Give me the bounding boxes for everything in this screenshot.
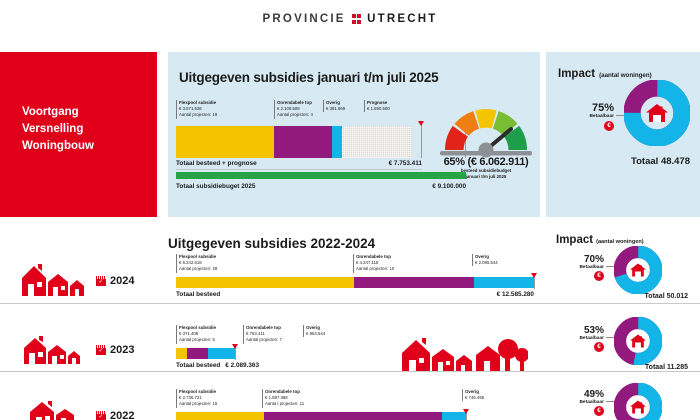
houses-silhouette-icon [22, 334, 90, 364]
total-label: Totaal besteed [176, 291, 220, 298]
marker-pin-2022 [466, 409, 467, 420]
legend-overig-2025: Overig € 381.869 [323, 100, 359, 112]
houses-silhouette-icon [20, 262, 92, 296]
legend-amount: € 954.544 [306, 331, 325, 336]
brand-word-provincie: PROVINCIE [263, 13, 346, 25]
marker-pin-2023 [235, 344, 236, 360]
legend-onrendabele-2024: Onrendabele top € 4.247.118 Aantal proje… [353, 254, 463, 273]
impact-subtitle: (aantal woningen) [599, 72, 652, 79]
gauge-chart: 65% (€ 6.062.911) besteed subsidiebudget… [436, 100, 536, 160]
total-label: Totaal besteed [176, 362, 220, 369]
donut-chart-2023 [614, 317, 662, 365]
year-label-2024: 2024 [96, 275, 134, 287]
houses-silhouette-icon [28, 400, 90, 420]
impact-subtitle: (aantal woningen) [596, 239, 644, 245]
legend-amount: € 1.597.388 [265, 395, 288, 400]
bar-segment-overig [474, 277, 534, 288]
legend-projects: Aantal projecten: 7 [246, 337, 282, 342]
marker-pin-besteed [421, 121, 422, 158]
total-row-2023: Totaal besteed € 2.089.363 [176, 362, 259, 369]
donut-chart-2024 [614, 246, 662, 294]
budget-bar-2025 [176, 172, 466, 179]
bar-segment-overig [332, 126, 343, 158]
impact-percent-block-2023: 53% Betaalbaar € [554, 325, 604, 352]
legend-projects: Aantal projecten: 19 [179, 112, 217, 117]
divider-2024 [0, 303, 700, 304]
bar-segment-onrendabele [187, 348, 209, 359]
section-title-2224: Uitgegeven subsidies 2022-2024 [168, 236, 375, 251]
bar-2022 [176, 412, 466, 420]
legend-projects: Aantal projecten: 5 [179, 337, 215, 342]
infographic-page: PROVINCIE UTRECHT Voortgang Versnelling … [0, 0, 700, 420]
euro-badge-icon: € [594, 406, 604, 416]
year-label-2023: 2023 [96, 344, 134, 356]
gauge-subcaption: besteed subsidiebudget januari t/m juli … [436, 168, 536, 180]
brand-header: PROVINCIE UTRECHT [0, 0, 700, 38]
marker-pin-2024 [534, 273, 535, 289]
brand-word-utrecht: UTRECHT [367, 13, 437, 25]
donut-chart-2025 [624, 80, 690, 146]
impact-percent-label: Betaalbaar [554, 336, 604, 341]
legend-overig-2023: Overig € 954.544 [303, 325, 353, 337]
calendar-check-icon [96, 345, 106, 355]
bar-2023 [176, 348, 235, 359]
left-red-panel: Voortgang Versnelling Woningbouw [0, 52, 157, 217]
total-spent-row-2025: Totaal besteed + prognose € 7.753.411 [176, 160, 422, 167]
legend-projects: Aanta l projecten: 11 [265, 401, 304, 406]
bar-segment-flexpool [176, 348, 187, 359]
euro-badge-icon: € [594, 342, 604, 352]
legend-amount: € 763.411 [246, 331, 265, 336]
euro-badge-icon: € [604, 121, 614, 131]
legend-prognose-2025: Prognose € 1.690.500 [364, 100, 414, 112]
calendar-check-icon [96, 411, 106, 420]
house-icon [614, 383, 662, 420]
gauge-caption: 65% (€ 6.062.911) besteed subsidiebudget… [436, 156, 536, 180]
bar-segment-flexpool [176, 412, 264, 420]
impact-percent: 53% [554, 325, 604, 336]
bar-2025 [176, 126, 412, 158]
bar-segment-onrendabele [264, 412, 442, 420]
impact-header-2025: Impact (aantal woningen) [558, 68, 652, 80]
budget-value: € 9.100.000 [432, 183, 466, 190]
legend-flexpool-2024: Flexpool subsidie € 6.242.618 Aantal pro… [176, 254, 286, 273]
impact-percent-label: Betaalbaar [554, 265, 604, 270]
impact-total-2023: Totaal 11.285 [548, 364, 688, 371]
legend-amount: € 2.736.721 [179, 395, 202, 400]
legend-amount: € 2.095.544 [475, 260, 498, 265]
donut-chart-2022 [614, 383, 662, 420]
impact-percent-label: Betaalbaar [554, 114, 614, 119]
provincie-utrecht-logo: PROVINCIE UTRECHT [263, 13, 438, 25]
panel-subsidies-2025: Uitgegeven subsidies januari t/m juli 20… [168, 52, 540, 217]
budget-row-2025: Totaal subsidiebuget 2025 € 9.100.000 [176, 183, 466, 190]
legend-overig-2022: Overig € 746.456 [462, 389, 522, 401]
house-icon [614, 317, 662, 365]
impact-header-2224: Impact (aantal woningen) [556, 234, 644, 246]
year-text: 2022 [110, 410, 134, 420]
bar-2024 [176, 277, 534, 288]
section-title-2025: Uitgegeven subsidies januari t/m juli 20… [179, 70, 438, 85]
divider-2023 [0, 371, 700, 372]
legend-flexpool-2023: Flexpool subsidie € 371.408 Aantal proje… [176, 325, 244, 344]
legend-amount: € 381.869 [326, 106, 345, 111]
legend-onrendabele-2023: Onrendabele top € 763.411 Aantal project… [243, 325, 303, 344]
legend-projects: Aantal projecten: 28 [179, 266, 217, 271]
euro-badge-icon: € [594, 271, 604, 281]
gauge-percent: 65% (€ 6.062.911) [436, 156, 536, 168]
legend-amount: € 6.242.618 [179, 260, 202, 265]
impact-percent-label: Betaalbaar [554, 400, 604, 405]
year-text: 2023 [110, 344, 134, 356]
legend-flexpool-2025: Flexpool subsidie € 3.571.538 Aantal pro… [176, 100, 276, 119]
legend-amount: € 1.690.500 [367, 106, 390, 111]
legend-amount: € 371.408 [179, 331, 198, 336]
impact-percent: 49% [554, 389, 604, 400]
total-value: € 2.089.363 [225, 362, 259, 369]
impact-total-2025: Totaal 48.478 [556, 156, 690, 167]
total-spent-value: € 7.753.411 [389, 160, 422, 167]
legend-projects: Aantal projecten: 15 [179, 401, 217, 406]
impact-title: Impact [556, 234, 593, 246]
bar-segment-overig [208, 348, 235, 359]
impact-percent-block-2025: 75% Betaalbaar € [554, 102, 614, 131]
legend-amount: € 4.247.118 [356, 260, 378, 265]
impact-title: Impact [558, 68, 595, 80]
gauge-svg [436, 100, 536, 158]
legend-overig-2024: Overig € 2.095.544 [472, 254, 532, 266]
impact-percent-block-2022: 49% Betaalbaar € [554, 389, 604, 416]
year-text: 2024 [110, 275, 134, 287]
bar-segment-onrendabele [354, 277, 475, 288]
four-dots-icon [352, 14, 362, 24]
impact-percent: 70% [554, 254, 604, 265]
impact-percent-block-2024: 70% Betaalbaar € [554, 254, 604, 281]
impact-total-2024: Totaal 50.012 [548, 293, 688, 300]
bar-segment-flexpool [176, 277, 354, 288]
year-label-2022: 2022 [96, 410, 134, 420]
legend-projects: Aantal projecten: 4 [277, 112, 313, 117]
calendar-check-icon [96, 276, 106, 286]
legend-amount: € 3.571.538 [179, 106, 202, 111]
house-icon [614, 246, 662, 294]
legend-projects: Aantal projecten: 10 [356, 266, 394, 271]
panel-impact-2025: Impact (aantal woningen) 75% Betaalbaar … [546, 52, 700, 217]
budget-label: Totaal subsidiebuget 2025 [176, 183, 255, 190]
page-title: Voortgang Versnelling Woningbouw [22, 104, 94, 155]
total-row-2024: Totaal besteed € 12.585.280 [176, 291, 534, 298]
house-icon [624, 80, 690, 146]
legend-onrendabele-2022: Onrendabele top € 1.597.388 Aanta l proj… [262, 389, 382, 408]
bar-segment-flexpool [176, 126, 274, 158]
impact-percent: 75% [554, 102, 614, 114]
houses-trees-silhouette-icon [398, 335, 528, 371]
bar-segment-prognose [342, 126, 412, 158]
legend-amount: € 746.456 [465, 395, 484, 400]
bar-segment-onrendabele [274, 126, 332, 158]
total-value: € 12.585.280 [497, 291, 534, 298]
divider-2025 [176, 169, 422, 170]
total-spent-label: Totaal besteed + prognose [176, 160, 257, 167]
legend-amount: € 2.109.508 [277, 106, 300, 111]
